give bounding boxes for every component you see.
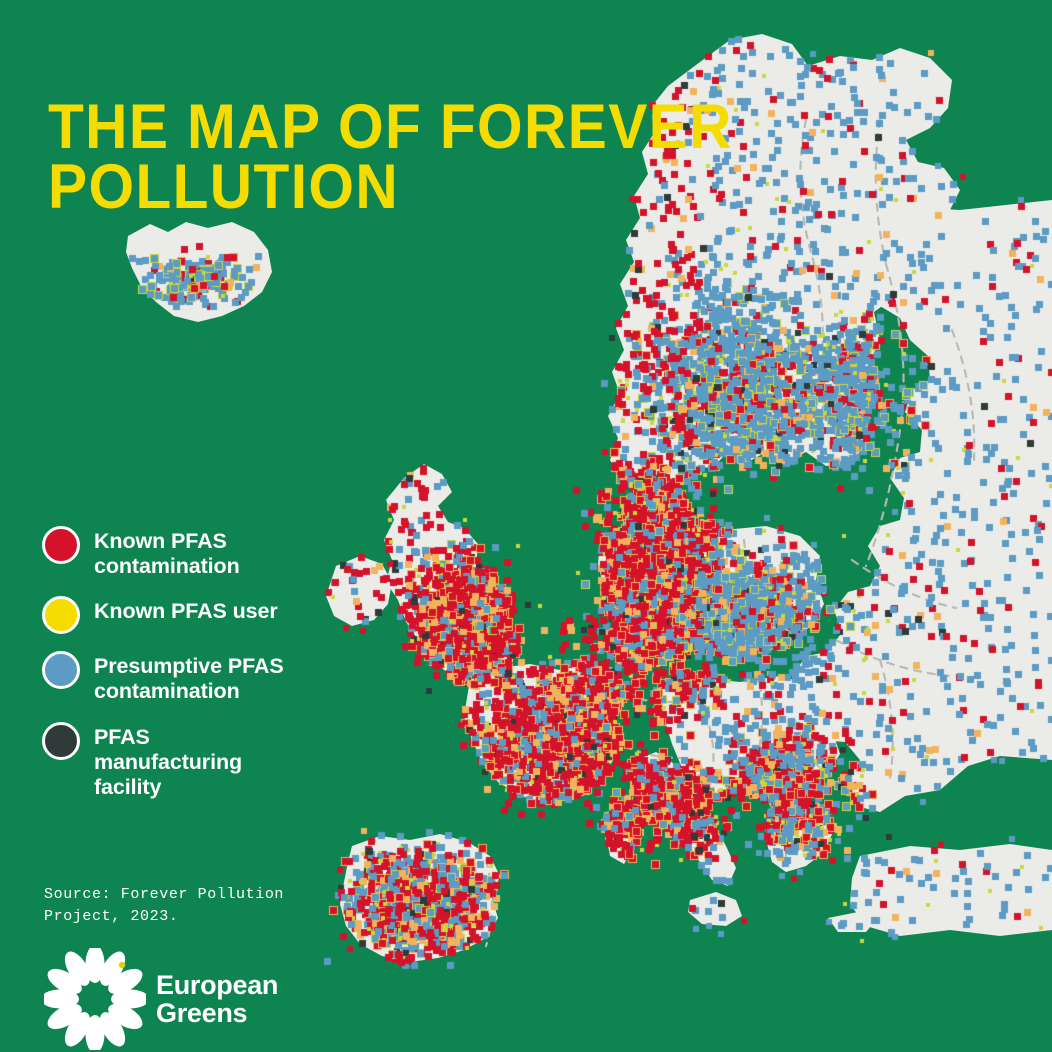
blue-dot-icon: [42, 651, 80, 689]
page-title: THE MAP OF FOREVER POLLUTION: [48, 98, 733, 218]
infographic-poster: THE MAP OF FOREVER POLLUTION Known PFAS …: [0, 0, 1052, 1052]
source-credit: Source: Forever Pollution Project, 2023.: [44, 884, 344, 928]
dark-dot-icon: [42, 722, 80, 760]
sunflower-svg: [44, 948, 146, 1050]
legend-item-manufacturing-facility[interactable]: PFAS manufacturing facility: [42, 721, 342, 800]
yellow-dot-icon: [42, 596, 80, 634]
red-dot-icon: [42, 526, 80, 564]
sunflower-icon: [44, 948, 146, 1050]
legend-item-label: Known PFAS contamination: [94, 525, 240, 579]
european-greens-logo[interactable]: European Greens: [44, 948, 278, 1050]
map-legend: Known PFAS contamination Known PFAS user…: [42, 525, 342, 816]
legend-item-label: Presumptive PFAS contamination: [94, 650, 284, 704]
legend-item-label: PFAS manufacturing facility: [94, 721, 242, 800]
accent-dot-icon: [119, 962, 125, 968]
legend-item-known-user[interactable]: Known PFAS user: [42, 595, 342, 634]
legend-item-label: Known PFAS user: [94, 595, 278, 624]
organisation-name: European Greens: [156, 971, 278, 1027]
legend-item-known-contamination[interactable]: Known PFAS contamination: [42, 525, 342, 579]
legend-item-presumptive-contamination[interactable]: Presumptive PFAS contamination: [42, 650, 342, 704]
